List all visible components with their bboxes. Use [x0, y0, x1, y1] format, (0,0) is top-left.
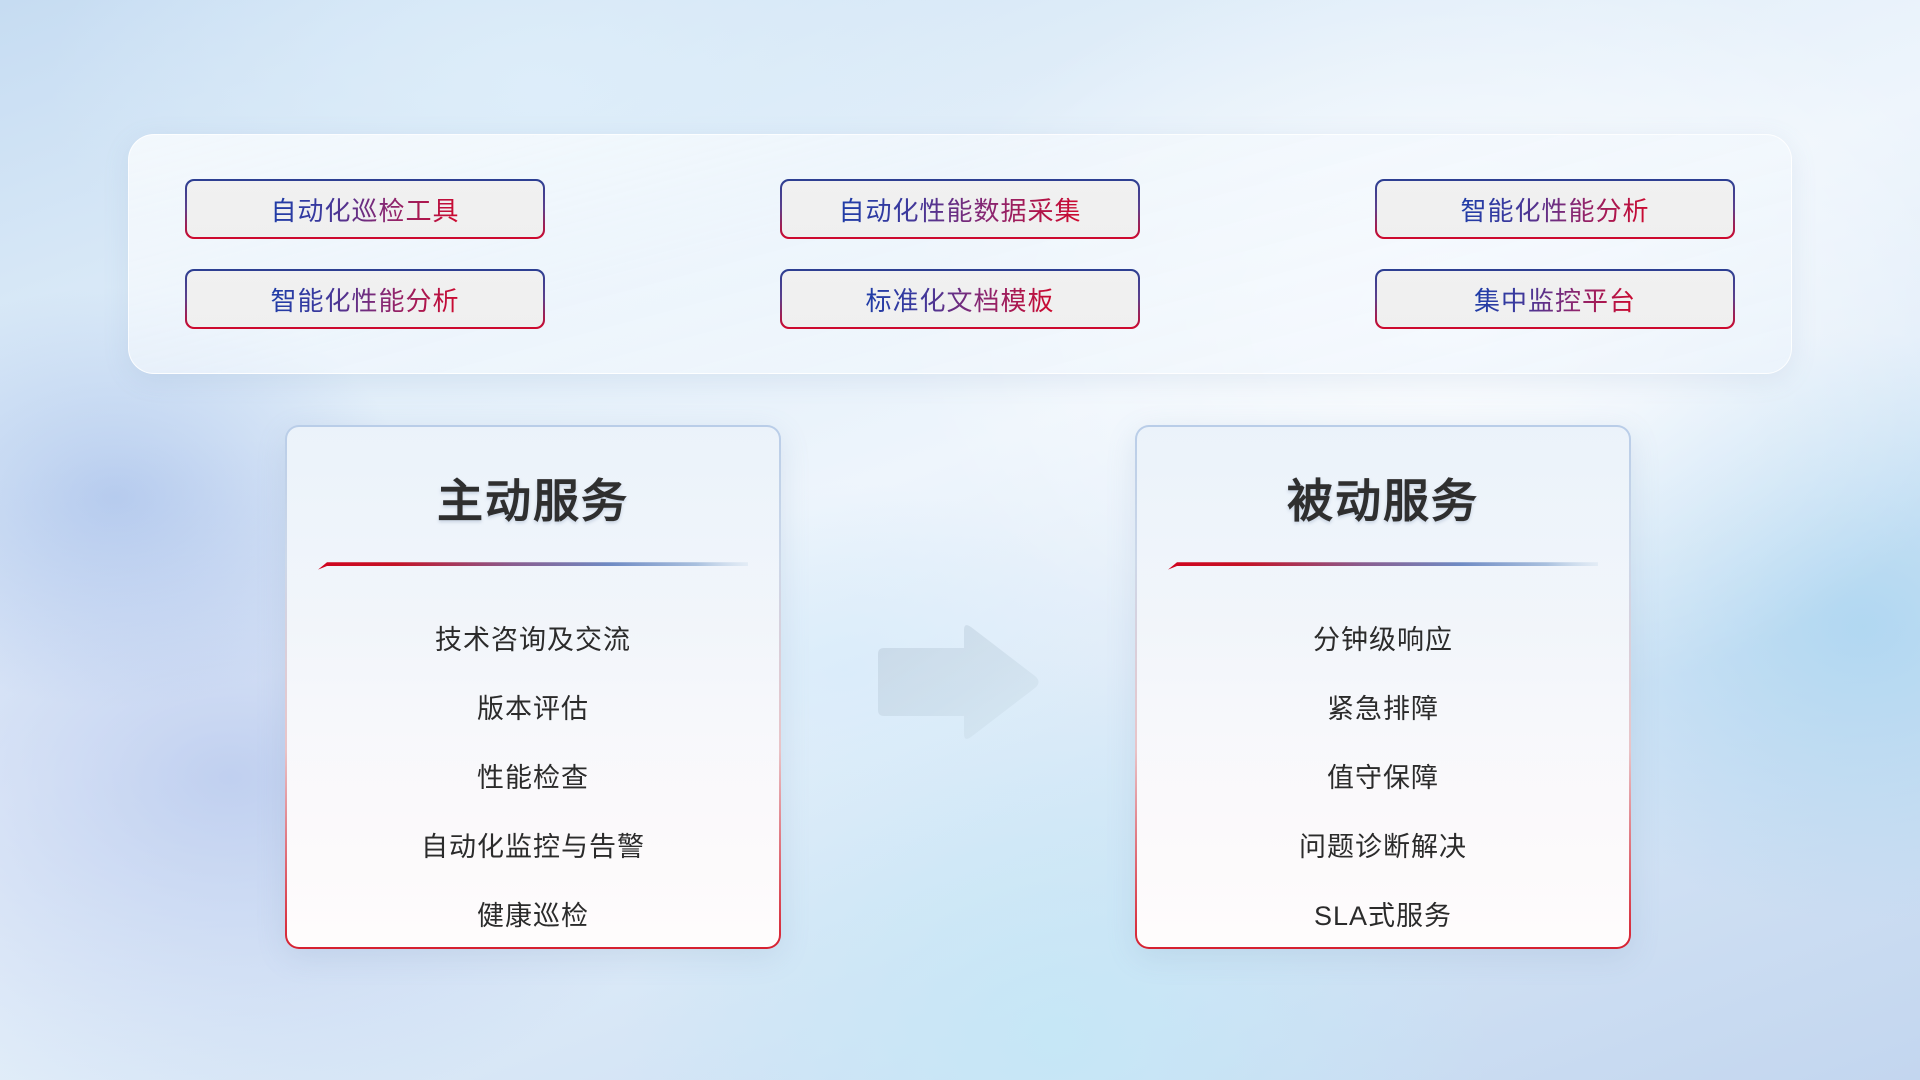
capability-pill-central-monitoring-platform[interactable]: 集中监控平台 — [1375, 269, 1735, 329]
arrow-right-icon — [872, 622, 1042, 742]
list-item: 自动化监控与告警 — [421, 813, 645, 882]
capability-pill-standard-doc-template[interactable]: 标准化文档模板 — [780, 269, 1140, 329]
list-item: 紧急排障 — [1327, 675, 1439, 744]
list-item: 值守保障 — [1327, 744, 1439, 813]
card-active-service-title: 主动服务 — [437, 465, 629, 531]
capability-pill-label: 智能化性能分析 — [1460, 191, 1649, 228]
card-passive-service-title: 被动服务 — [1287, 465, 1479, 531]
card-active-service: 主动服务 技术咨询及交流 版本评估 性能检查 — [285, 425, 781, 949]
capability-pill-label: 智能化性能分析 — [270, 281, 459, 318]
capability-pill-label: 标准化文档模板 — [865, 281, 1054, 318]
card-passive-service-divider — [1168, 561, 1598, 570]
card-passive-service-inner: 被动服务 分钟级响应 紧急排障 值守保障 — [1137, 427, 1629, 947]
capability-panel: 自动化巡检工具 自动化性能数据采集 智能化性能分析 智能化性能分析 标准化文档模… — [128, 134, 1792, 374]
list-item: 问题诊断解决 — [1299, 813, 1467, 882]
capability-pill-label: 自动化性能数据采集 — [838, 191, 1081, 228]
capability-pill-intelligent-perf-analysis[interactable]: 智能化性能分析 — [1375, 179, 1735, 239]
card-passive-service-list: 分钟级响应 紧急排障 值守保障 问题诊断解决 SLA式服务 — [1137, 606, 1629, 951]
card-active-service-divider — [318, 561, 748, 570]
card-passive-service: 被动服务 分钟级响应 紧急排障 值守保障 — [1135, 425, 1631, 949]
capability-row-1: 自动化巡检工具 自动化性能数据采集 智能化性能分析 — [185, 179, 1735, 239]
capability-pill-intelligent-perf-analysis-2[interactable]: 智能化性能分析 — [185, 269, 545, 329]
list-item: 健康巡检 — [477, 882, 589, 951]
capability-pill-label: 集中监控平台 — [1474, 281, 1636, 318]
list-item: 版本评估 — [477, 675, 589, 744]
capability-pill-label: 自动化巡检工具 — [270, 191, 459, 228]
list-item: 分钟级响应 — [1313, 606, 1453, 675]
list-item: SLA式服务 — [1314, 882, 1452, 951]
capability-pill-auto-perf-data-collection[interactable]: 自动化性能数据采集 — [780, 179, 1140, 239]
list-item: 技术咨询及交流 — [435, 606, 631, 675]
capability-pill-auto-inspection-tool[interactable]: 自动化巡检工具 — [185, 179, 545, 239]
card-active-service-list: 技术咨询及交流 版本评估 性能检查 自动化监控与告警 健康巡检 — [287, 606, 779, 951]
card-active-service-inner: 主动服务 技术咨询及交流 版本评估 性能检查 — [287, 427, 779, 947]
list-item: 性能检查 — [477, 744, 589, 813]
capability-row-2: 智能化性能分析 标准化文档模板 集中监控平台 — [185, 269, 1735, 329]
